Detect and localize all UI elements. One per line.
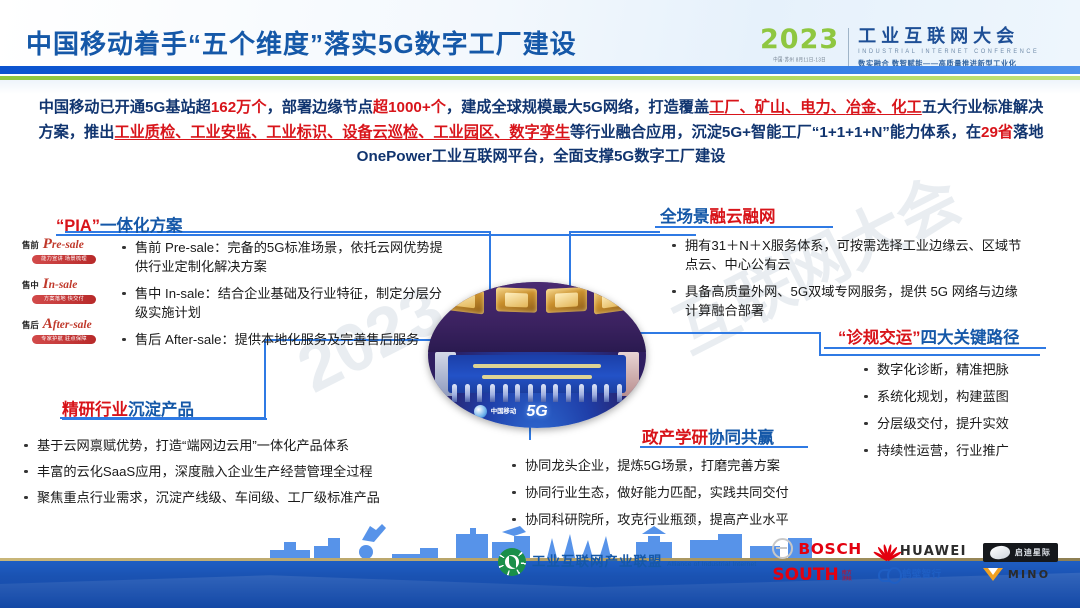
ceiling-panel-2: [496, 288, 537, 313]
ceiling-panel-3: [546, 287, 587, 313]
section-underline-pia: [56, 234, 696, 236]
pia-badge-after-sale: 售后 After-sale 专家护航 驻点保障: [22, 316, 114, 344]
footer-logo-strip: 工业互联网产业联盟 Alliance of Industrial Interne…: [498, 538, 1058, 585]
section-heading-collaboration-blue: 协同共赢: [708, 429, 774, 447]
list-item: 聚焦重点行业需求，沉淀产线级、车间级、工厂级标准产品: [20, 488, 450, 507]
section-heading-product-blue: 沉淀产品: [128, 401, 194, 419]
south-label: SOUTH: [772, 565, 838, 585]
list-item: 分层级交付，提升实效: [860, 414, 1080, 433]
gdzh-label: 鹤壁智行: [902, 566, 942, 580]
bosch-label: BOSCH: [798, 540, 862, 558]
section-heading-key-paths-blue: 四大关键路径: [921, 329, 1020, 347]
pia-badge-in-sale: 售中 In-sale 方案落地 快交付: [22, 276, 114, 304]
gear-icon: [498, 548, 526, 576]
pia-badge-list: 售前 Pre-sale 能力宣讲 场景梳理 售中 In-sale 方案落地 快交…: [22, 236, 114, 356]
product-bullets: 基于云网禀赋优势，打造“端网边云用”一体化产品体系 丰富的云化SaaS应用，深度…: [20, 436, 450, 514]
list-item: 具备高质量外网、5G双域专网服务，提供 5G 网络与边缘计算融合部署: [668, 282, 1028, 320]
ceiling-panel-1: [443, 286, 484, 315]
cloud-network-bullets: 拥有31＋N＋X服务体系，可按需选择工业边缘云、区域节点云、中心公有云 具备高质…: [668, 236, 1028, 328]
stage-screen-line-2: [482, 375, 593, 379]
china-mobile-mark-icon: [474, 405, 487, 418]
logo-south: SOUTH 南方 测绘: [772, 565, 862, 585]
logo-column-bosch-south: BOSCH SOUTH 南方 测绘: [772, 538, 862, 585]
photo-ceiling: [428, 282, 646, 352]
section-heading-product: 精研行业沉淀产品: [62, 396, 194, 420]
mino-label: MINO: [1008, 568, 1050, 581]
slide-root: 中国移动着手“五个维度”落实5G数字工厂建设 2023 中国·苏州 8月11日-…: [0, 0, 1080, 608]
list-item: 系统化规划，构建蓝图: [860, 387, 1080, 406]
section-heading-product-red: 精研行业: [62, 401, 128, 419]
alliance-name-en: Alliance of Industrial Internet: [667, 561, 756, 568]
logo-mino: MINO: [983, 568, 1058, 581]
list-item: 协同行业生态，做好能力匹配，实践共同交付: [508, 483, 838, 502]
section-heading-collaboration: 政产学研协同共赢: [642, 424, 774, 448]
pia-badge-pre-sale: 售前 Pre-sale 能力宣讲 场景梳理: [22, 236, 114, 264]
gdzh-mark-icon: [878, 567, 898, 580]
section-heading-cloud-network: 全场景融云融网: [660, 203, 776, 227]
logo-column-huawei-gdzh: HUAWEI 鹤壁智行: [878, 543, 967, 580]
list-item: 丰富的云化SaaS应用，深度融入企业生产经营管理全过程: [20, 462, 450, 481]
alliance-name-cn: 工业互联网产业联盟: [532, 554, 663, 569]
pia-badge-in-sale-cn: 售中: [22, 279, 39, 291]
section-heading-pia-red: “PIA”: [56, 217, 100, 235]
stage-crowd: [452, 384, 622, 402]
pia-badge-pre-sale-cap: P: [43, 236, 52, 252]
logo-bosch: BOSCH: [772, 538, 862, 559]
section-heading-pia: “PIA”一体化方案: [56, 212, 183, 236]
list-item: 协同龙头企业，提炼5G场景，打磨完善方案: [508, 456, 838, 475]
list-item: 持续性运营，行业推广: [860, 441, 1080, 460]
qdxc-label: 启迪星际: [1015, 547, 1051, 558]
south-sub-line2: 测绘: [842, 577, 852, 583]
section-underline-collaboration: [640, 446, 808, 448]
logo-gdzh: 鹤壁智行: [878, 566, 967, 580]
logo-qdxc: 启迪星际: [983, 543, 1058, 562]
logo-huawei: HUAWEI: [878, 543, 967, 560]
section-heading-key-paths-red: “诊规交运”: [838, 329, 921, 347]
pia-badge-after-sale-cn: 售后: [22, 319, 39, 331]
section-underline-key-paths: [824, 347, 1046, 349]
key-paths-bullets: 数字化诊断，精准把脉 系统化规划，构建蓝图 分层级交付，提升实效 持续性运营，行…: [860, 360, 1080, 468]
section-heading-cloud-network-blue: 全场景: [660, 208, 710, 226]
stage-screen-line-1: [473, 364, 602, 368]
list-item: 拥有31＋N＋X服务体系，可按需选择工业边缘云、区域节点云、中心公有云: [668, 236, 1028, 274]
section-heading-pia-blue: 一体化方案: [100, 217, 183, 235]
section-heading-cloud-network-red: 融云融网: [710, 208, 776, 226]
pia-badge-pre-sale-pill: 能力宣讲 场景梳理: [32, 255, 96, 264]
section-heading-collaboration-red: 政产学研: [642, 429, 708, 447]
ceiling-panel-4: [594, 286, 631, 315]
pia-badge-pre-sale-cn: 售前: [22, 239, 39, 251]
photo-background: 中国移动 5G: [428, 282, 646, 428]
huawei-flower-icon: [878, 543, 895, 560]
china-mobile-5g-label: 5G: [526, 403, 547, 421]
list-item: 售前 Pre-sale：完备的5G标准场景，依托云网优势提供行业定制化解决方案: [118, 238, 448, 276]
huawei-label: HUAWEI: [900, 544, 967, 559]
logo-alliance-of-industrial-internet: 工业互联网产业联盟 Alliance of Industrial Interne…: [498, 548, 756, 576]
pia-badge-pre-sale-en: re-sale: [52, 239, 84, 251]
section-underline-product: [62, 418, 267, 420]
list-item: 售中 In-sale：结合企业基础及行业特征，制定分层分级实施计划: [118, 284, 448, 322]
pia-badge-in-sale-pill: 方案落地 快交付: [32, 295, 96, 304]
section-underline-cloud-network: [655, 226, 833, 228]
pia-badge-in-sale-en: n-sale: [49, 279, 78, 291]
china-mobile-logo: 中国移动 5G: [474, 403, 548, 421]
pia-badge-after-sale-cap: A: [43, 316, 53, 332]
bosch-mark-icon: [772, 538, 793, 559]
pia-badge-after-sale-pill: 专家护航 驻点保障: [32, 335, 96, 344]
pia-bullets: 售前 Pre-sale：完备的5G标准场景，依托云网优势提供行业定制化解决方案 …: [118, 238, 448, 357]
section-heading-key-paths: “诊规交运”四大关键路径: [838, 324, 1020, 348]
china-mobile-brand-cn: 中国移动: [491, 408, 517, 415]
list-item: 售后 After-sale：提供本地化服务及完善售后服务: [118, 330, 448, 349]
logo-column-qdxc-mino: 启迪星际 MINO: [983, 543, 1058, 581]
list-item: 基于云网禀赋优势，打造“端网边云用”一体化产品体系: [20, 436, 450, 455]
mino-mark-icon: [983, 568, 1003, 581]
list-item: 数字化诊断，精准把脉: [860, 360, 1080, 379]
pia-badge-after-sale-en: fter-sale: [53, 319, 92, 331]
qdxc-mark-icon: [989, 544, 1011, 560]
center-event-photo: 中国移动 5G: [428, 282, 646, 428]
